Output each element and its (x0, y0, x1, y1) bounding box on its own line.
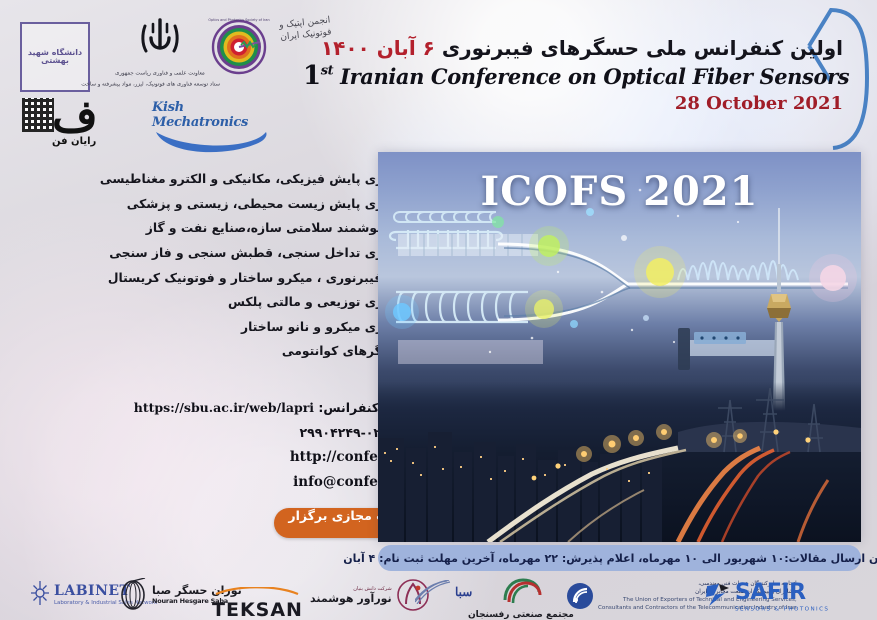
gov-caption-line-2: ستاد توسعه فناوری های فوتونیک، لیزر، موا… (100, 81, 220, 89)
svg-text:Optics and Photonics Society o: Optics and Photonics Society of Iran (208, 18, 269, 22)
kish-name-label: Kish Mechatronics (152, 100, 272, 130)
deadline-bar: زمان ارسال مقالات:۱۰ شهریور الی ۱۰ مهرما… (378, 545, 861, 571)
safir-mark-icon (705, 582, 731, 608)
logo-safir: SAFIR SENSORS & PHOTONICS (705, 580, 806, 610)
date-farsi: ۶ آبان ۱۴۰۰ (321, 36, 435, 60)
sponsor-logo-row-bottom: LABINET Laboratory & Industrial Sales Ne… (0, 574, 877, 620)
safir-name: SAFIR (735, 580, 806, 605)
logo-rafsanjan-industrial: مجتمع صنعتی رفسنجان (468, 578, 574, 620)
logo-vice-presidency-science: معاونت علمی و فناوری ریاست جمهوری ستاد ت… (120, 18, 200, 87)
rayan-pattern-icon (22, 98, 54, 132)
logo-kish-mechatronics: Kish Mechatronics (152, 100, 272, 148)
title-farsi-text: اولین کنفرانس ملی حسگرهای فیبرنوری (442, 36, 843, 60)
teksan-arc-icon (214, 587, 300, 595)
date-english: 28 October 2021 (303, 93, 843, 114)
rafsanjan-mark-icon (499, 578, 543, 604)
title-english-text: Iranian Conference on Optical Fiber Sens… (340, 64, 849, 89)
nouran-coil-icon (118, 578, 148, 610)
gov-caption-line-1: معاونت علمی و فناوری ریاست جمهوری (100, 70, 220, 78)
city-nightscape (378, 382, 861, 542)
sbu-logo-label: دانشگاه شهید بهشتی (22, 49, 88, 66)
noor-name-fa: نورآور هوشمند (310, 592, 392, 605)
logo-saba: سبا (415, 580, 472, 604)
logo-rayan-fan: ف رایان فن (18, 96, 138, 148)
labinet-mark-icon (30, 580, 50, 606)
rafsanjan-name-fa: مجتمع صنعتی رفسنجان (468, 610, 574, 620)
rayan-mark-glyph: ف (52, 96, 98, 138)
saba-swoosh-icon (415, 580, 451, 604)
logo-optics-photonics-society: Optics and Photonics Society of Iran (208, 14, 270, 76)
address-url[interactable]: https://sbu.ac.ir/web/lapri (134, 400, 314, 415)
title-english: 1st Iranian Conference on Optical Fiber … (303, 61, 843, 91)
conference-poster: دانشگاه شهید بهشتی معاونت علمی و فناوری … (0, 0, 877, 620)
title-farsi: اولین کنفرانس ملی حسگرهای فیبرنوری ۶ آبا… (303, 36, 843, 60)
safir-subtitle: SENSORS & PHOTONICS (735, 605, 834, 612)
logo-teksan: TEKSAN Detect Precisely (212, 580, 303, 620)
rayan-name-label: رایان فن (52, 136, 96, 147)
logo-shahid-beheshti-university: دانشگاه شهید بهشتی (20, 22, 90, 92)
poster-headline: اولین کنفرانس ملی حسگرهای فیبرنوری ۶ آبا… (303, 36, 843, 114)
logo-labinet: LABINET Laboratory & Industrial Sales Ne… (30, 580, 130, 606)
ordinal-number: 1st (303, 61, 333, 91)
union-globe-icon (566, 582, 594, 610)
hero-image: ICOFS 2021 (378, 152, 861, 542)
iran-emblem-icon (120, 18, 200, 64)
logo-nooravar-houshmand: شرکت دانش بنیان نورآور هوشمند (310, 578, 430, 612)
teksan-name: TEKSAN (212, 599, 303, 620)
